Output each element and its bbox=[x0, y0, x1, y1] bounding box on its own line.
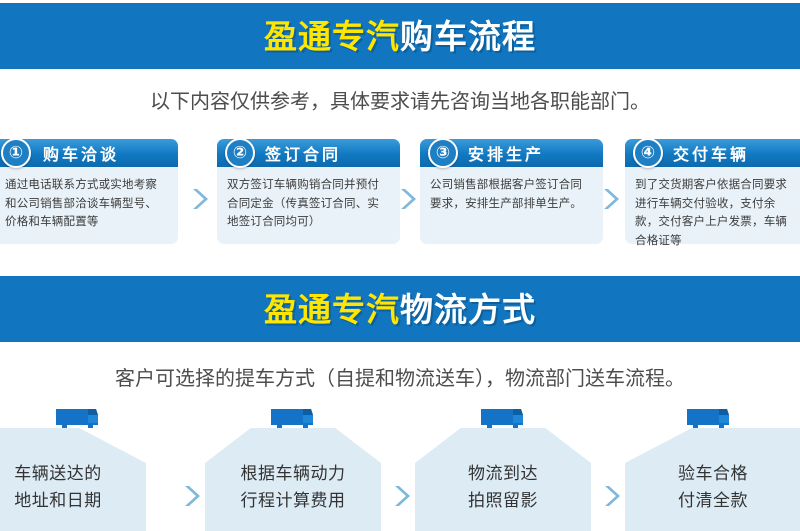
logistics-item-1[interactable]: 车辆送达的 地址和日期 bbox=[0, 405, 146, 531]
chevron-right-icon bbox=[190, 187, 208, 211]
purchase-and-logistics-infographic: 盈通专汽购车流程 以下内容仅供参考，具体要求请先咨询当地各职能部门。 ① 购车洽… bbox=[0, 0, 800, 531]
step-card-3-title: 安排生产 bbox=[468, 141, 544, 165]
logistics-item-2-line1: 根据车辆动力 bbox=[241, 461, 346, 487]
section-2-banner-highlight: 盈通专汽 bbox=[264, 291, 400, 328]
section-2-banner-rest: 物流方式 bbox=[400, 291, 536, 328]
step-card-2[interactable]: ② 签订合同 双方签订车辆购销合同并预付合同定金（传真签订合同、实地签订合同均可… bbox=[217, 139, 400, 244]
logistics-item-4-line2: 付清全款 bbox=[678, 488, 748, 514]
chevron-right-icon bbox=[601, 187, 619, 211]
logistics-item-2[interactable]: 根据车辆动力 行程计算费用 bbox=[205, 405, 381, 531]
section-2-subtitle: 客户可选择的提车方式（自提和物流送车），物流部门送车流程。 bbox=[0, 362, 800, 391]
logistics-item-1-line1: 车辆送达的 bbox=[14, 461, 102, 487]
step-card-2-body: 双方签订车辆购销合同并预付合同定金（传真签订合同、实地签订合同均可） bbox=[217, 167, 400, 244]
step-card-1[interactable]: ① 购车洽谈 通过电话联系方式或实地考察和公司销售部洽谈车辆型号、价格和车辆配置… bbox=[0, 139, 178, 244]
step-card-4-body: 到了交货期客户依据合同要求进行车辆交付验收，支付余款，交付客户上户发票，车辆合格… bbox=[625, 167, 800, 244]
logistics-pentagon-4: 验车合格 付清全款 bbox=[625, 428, 800, 531]
logistics-item-3[interactable]: 物流到达 拍照留影 bbox=[415, 405, 591, 531]
section-1-banner-rest: 购车流程 bbox=[400, 18, 536, 55]
step-number-badge: ② bbox=[225, 138, 255, 168]
step-card-4-title: 交付车辆 bbox=[673, 141, 749, 165]
chevron-right-icon bbox=[182, 483, 200, 509]
section-1-banner-title: 盈通专汽购车流程 bbox=[264, 20, 536, 53]
section-2-banner: 盈通专汽物流方式 bbox=[0, 276, 800, 342]
logistics-item-4-line1: 验车合格 bbox=[678, 461, 748, 487]
step-card-3-header: ③ 安排生产 bbox=[420, 139, 603, 167]
step-card-1-title: 购车洽谈 bbox=[43, 141, 119, 165]
step-number-badge: ① bbox=[1, 138, 31, 168]
step-card-1-header: ① 购车洽谈 bbox=[0, 139, 178, 167]
step-card-3-body: 公司销售部根据客户签订合同要求，安排生产部排单生产。 bbox=[420, 167, 603, 244]
step-card-3[interactable]: ③ 安排生产 公司销售部根据客户签订合同要求，安排生产部排单生产。 bbox=[420, 139, 603, 244]
step-card-4[interactable]: ④ 交付车辆 到了交货期客户依据合同要求进行车辆交付验收，支付余款，交付客户上户… bbox=[625, 139, 800, 244]
logistics-pentagon-1: 车辆送达的 地址和日期 bbox=[0, 428, 146, 531]
logistics-pentagon-3: 物流到达 拍照留影 bbox=[415, 428, 591, 531]
logistics-item-3-line1: 物流到达 bbox=[468, 461, 538, 487]
logistics-pentagon-2: 根据车辆动力 行程计算费用 bbox=[205, 428, 381, 531]
section-1-banner-highlight: 盈通专汽 bbox=[264, 18, 400, 55]
chevron-right-icon bbox=[398, 187, 416, 211]
logistics-item-3-line2: 拍照留影 bbox=[468, 488, 538, 514]
purchase-steps-row: ① 购车洽谈 通过电话联系方式或实地考察和公司销售部洽谈车辆型号、价格和车辆配置… bbox=[0, 139, 800, 244]
logistics-item-1-line2: 地址和日期 bbox=[14, 488, 102, 514]
section-2-banner-title: 盈通专汽物流方式 bbox=[264, 293, 536, 326]
step-number-badge: ③ bbox=[428, 138, 458, 168]
section-1-banner: 盈通专汽购车流程 bbox=[0, 3, 800, 69]
step-card-1-body: 通过电话联系方式或实地考察和公司销售部洽谈车辆型号、价格和车辆配置等 bbox=[0, 167, 178, 244]
step-number-badge: ④ bbox=[633, 138, 663, 168]
chevron-right-icon bbox=[602, 483, 620, 509]
section-1-subtitle: 以下内容仅供参考，具体要求请先咨询当地各职能部门。 bbox=[0, 85, 800, 114]
chevron-right-icon bbox=[392, 483, 410, 509]
step-card-4-header: ④ 交付车辆 bbox=[625, 139, 800, 167]
logistics-item-4[interactable]: 验车合格 付清全款 bbox=[625, 405, 800, 531]
step-card-2-title: 签订合同 bbox=[265, 141, 341, 165]
logistics-item-2-line2: 行程计算费用 bbox=[241, 488, 346, 514]
logistics-steps-row: 车辆送达的 地址和日期 根据车辆动力 行程计算费用 bbox=[0, 405, 800, 531]
step-card-2-header: ② 签订合同 bbox=[217, 139, 400, 167]
